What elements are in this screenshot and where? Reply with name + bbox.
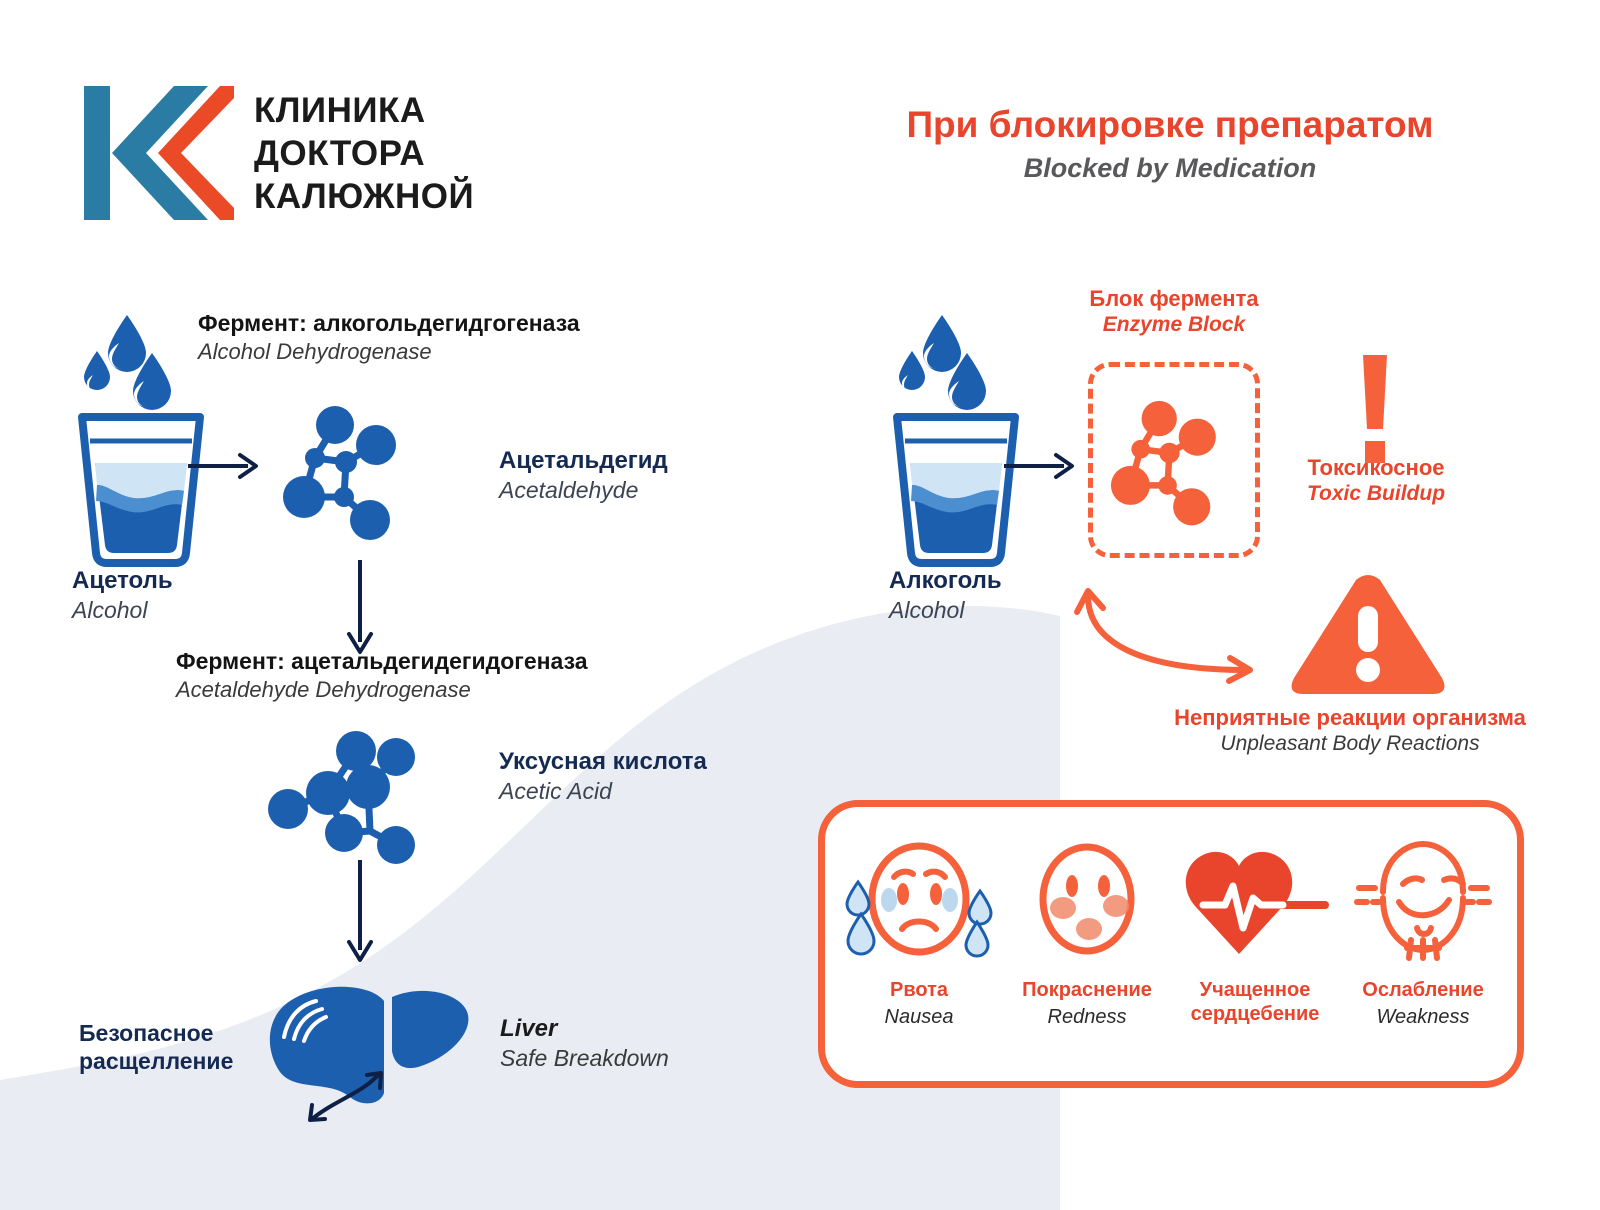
symptom-heartbeat-line-2: сердцебение (1191, 1003, 1320, 1025)
label-acetaldehyde: Ацетальдегид Acetaldehyde (499, 447, 668, 505)
brand-line-2: ДОКТОРА (254, 132, 474, 175)
label-alcohol-right: Алкоголь Alcohol (889, 567, 1002, 625)
label-body-reactions: Неприятные реакции организма Unpleasant … (1130, 705, 1570, 758)
label-acetic-acid-ru: Уксусная кислота (499, 748, 707, 777)
label-safe-breakdown-ru: Безопасное расщелление (79, 1020, 233, 1075)
acetic-acid-molecule-icon (262, 725, 432, 875)
arrow-down-2-icon (340, 860, 380, 970)
label-enzyme-1-en: Alcohol Dehydrogenase (198, 338, 580, 366)
label-acetic-acid: Уксусная кислота Acetic Acid (499, 748, 707, 806)
symptom-weakness-en: Weakness (1376, 1006, 1469, 1029)
label-alcohol-right-ru: Алкоголь (889, 567, 1002, 596)
label-enzyme-2-en: Acetaldehyde Dehydrogenase (176, 676, 588, 704)
nausea-icon-wrap (839, 833, 999, 965)
heartbeat-icon-wrap (1179, 833, 1331, 965)
arrow-right-2-icon (1002, 448, 1080, 484)
symptom-nausea-ru: Рвота (890, 979, 948, 1003)
label-liver-sub: Safe Breakdown (500, 1044, 669, 1073)
double-chevron-k-logo-icon (82, 78, 234, 228)
liver-icon (250, 975, 500, 1125)
label-enzyme-1: Фермент: алкогольдегидгогеназа Alcohol D… (198, 310, 580, 365)
weak-face-icon (1347, 836, 1499, 962)
label-safe-line-1: Безопасное (79, 1020, 233, 1048)
symptom-nausea-en: Nausea (885, 1006, 954, 1029)
label-enzyme-block-ru: Блок фермента (1044, 286, 1304, 312)
label-alcohol-right-en: Alcohol (889, 596, 1002, 625)
page-title-ru: При блокировке препаратом (860, 104, 1480, 147)
brand-logo: КЛИНИКА ДОКТОРА КАЛЮЖНОЙ (82, 78, 474, 228)
label-body-reactions-ru: Неприятные реакции организма (1130, 705, 1570, 731)
label-acetaldehyde-ru: Ацетальдегид (499, 447, 668, 476)
arrow-right-1-icon (186, 448, 264, 484)
weakness-icon-wrap (1347, 833, 1499, 965)
symptoms-card: Рвота Nausea (818, 800, 1524, 1088)
flushed-face-icon (1031, 836, 1143, 962)
label-enzyme-block-en: Enzyme Block (1044, 312, 1304, 338)
label-enzyme-block: Блок фермента Enzyme Block (1044, 286, 1304, 339)
symptom-redness-ru: Покраснение (1022, 979, 1152, 1003)
redness-icon-wrap (1031, 833, 1143, 965)
label-toxic-buildup-en: Toxic Buildup (1250, 481, 1502, 507)
brand-line-3: КАЛЮЖНОЙ (254, 175, 474, 218)
page-title-en: Blocked by Medication (860, 153, 1480, 184)
label-acetic-acid-en: Acetic Acid (499, 777, 707, 806)
symptom-item-weakness: Ослабление Weakness (1339, 833, 1507, 1029)
infographic-canvas: КЛИНИКА ДОКТОРА КАЛЮЖНОЙ При блокировке … (0, 0, 1600, 1200)
label-liver: Liver Safe Breakdown (500, 1015, 669, 1073)
warning-triangle-icon (1288, 570, 1448, 700)
exclamation-mark-icon (1352, 355, 1398, 465)
symptom-heartbeat-line-1: Учащенное (1200, 979, 1311, 1001)
brand-line-1: КЛИНИКА (254, 89, 474, 132)
symptom-redness-en: Redness (1048, 1006, 1127, 1029)
label-acetaldehyde-en: Acetaldehyde (499, 476, 668, 505)
heartbeat-icon (1179, 836, 1331, 962)
blocked-molecule-icon (1110, 400, 1240, 530)
symptom-heartbeat-ru: Учащенное сердцебение (1191, 979, 1320, 1026)
nauseated-face-icon (839, 836, 999, 962)
label-alcohol-left-ru: Ацетоль (72, 567, 173, 596)
brand-name: КЛИНИКА ДОКТОРА КАЛЮЖНОЙ (254, 89, 474, 218)
label-alcohol-left: Ацетоль Alcohol (72, 567, 173, 625)
label-liver-title: Liver (500, 1015, 669, 1044)
label-enzyme-2-ru: Фермент: ацетальдегидегидогеназа (176, 648, 588, 676)
label-toxic-buildup: Токсикосное Toxic Buildup (1250, 455, 1502, 508)
label-enzyme-1-ru: Фермент: алкогольдегидгогеназа (198, 310, 580, 338)
alcohol-glass-right-icon (885, 305, 1045, 570)
label-alcohol-left-en: Alcohol (72, 596, 173, 625)
arrow-down-1-icon (340, 560, 380, 660)
label-safe-line-2: расщелление (79, 1048, 233, 1076)
label-body-reactions-en: Unpleasant Body Reactions (1130, 731, 1570, 757)
symptom-item-heartbeat: Учащенное сердцебение (1171, 833, 1339, 1026)
curved-double-arrow-icon (1070, 578, 1270, 686)
acetaldehyde-molecule-icon (282, 405, 422, 545)
label-enzyme-2: Фермент: ацетальдегидегидогеназа Acetald… (176, 648, 588, 703)
symptom-item-nausea: Рвота Nausea (835, 833, 1003, 1029)
page-title: При блокировке препаратом Blocked by Med… (860, 104, 1480, 184)
symptom-weakness-ru: Ослабление (1362, 979, 1483, 1003)
label-toxic-buildup-ru: Токсикосное (1250, 455, 1502, 481)
symptom-item-redness: Покраснение Redness (1003, 833, 1171, 1029)
